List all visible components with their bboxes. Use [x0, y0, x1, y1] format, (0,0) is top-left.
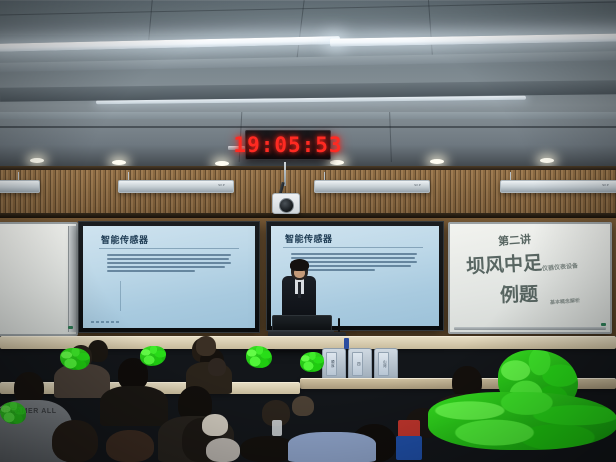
ceiling-projector	[272, 193, 300, 214]
left-slide-title: 智能传感器	[101, 233, 149, 246]
foliage-decoration	[140, 346, 166, 366]
wall-lamp-label: SKP	[218, 183, 225, 187]
podium-microphone	[338, 318, 340, 332]
right-slide-body	[291, 253, 417, 273]
wall-light-fixture: SKP	[314, 180, 430, 193]
foliage-decoration	[60, 348, 90, 370]
right-whiteboard: 第二讲 坝风中足 仪器仪表设备 例题 基本概念解析	[448, 222, 612, 334]
seat-placard: 顺序	[326, 352, 337, 376]
ceiling-downlight	[540, 158, 554, 163]
ceiling-downlight	[330, 160, 344, 165]
whiteboard-pen-tray	[454, 327, 606, 330]
ceiling-downlight	[112, 160, 126, 165]
whiteboard-text-5: 基本概念解析	[550, 297, 580, 306]
wall-lamp-label: SKP	[414, 183, 421, 187]
desk-object-bottle	[344, 338, 349, 349]
left-slide-body	[107, 254, 231, 274]
wall-light-fixture	[0, 180, 40, 193]
whiteboard-text-2: 坝风中足	[465, 248, 542, 279]
whiteboard-text-1: 第二讲	[497, 231, 531, 249]
foliage-decoration	[246, 346, 272, 368]
audience-head	[196, 336, 216, 356]
presenter-tie	[298, 282, 301, 298]
left-screen-frame: 智能传感器	[78, 221, 260, 333]
clock-time-display: 19:05:53	[233, 135, 342, 156]
wood-slat-wall	[0, 170, 616, 218]
foliage-decoration	[428, 392, 616, 450]
seat-placard: 四	[352, 352, 363, 376]
projector-lens	[279, 198, 294, 213]
ceiling-downlight	[430, 159, 444, 164]
ceiling-light-strip-1	[0, 36, 340, 52]
ceiling-downlight	[30, 158, 44, 163]
audience-head	[208, 358, 226, 376]
left-slide-footer	[91, 321, 119, 323]
audience-head	[206, 438, 240, 462]
audience-torso	[100, 386, 168, 426]
seat-placard-text: 山河	[382, 360, 386, 368]
desk-object-blue-box	[396, 436, 422, 460]
audience-torso	[288, 432, 376, 462]
audience-head	[202, 414, 228, 436]
audience-head	[52, 420, 98, 462]
led-wall-clock: 19:05:53	[245, 130, 331, 160]
desk-object-cup	[272, 420, 282, 436]
wall-lamp-label: SKP	[602, 183, 609, 187]
audience-head	[106, 430, 154, 462]
whiteboard-text-4: 例题	[500, 279, 539, 307]
right-slide-title: 智能传感器	[285, 232, 333, 245]
wall-light-fixture: SKP	[500, 180, 616, 193]
left-projection-screen: 智能传感器	[83, 226, 255, 328]
foliage-decoration	[300, 352, 324, 372]
left-whiteboard-panel	[0, 222, 78, 336]
seat-placard-text: 四	[356, 362, 360, 366]
seat-placard-text: 顺序	[330, 360, 334, 368]
foliage-decoration	[0, 402, 26, 424]
wall-light-fixture: SKP	[118, 180, 234, 193]
seat-placard: 山河	[378, 352, 389, 376]
ceiling-light-strip-2	[330, 33, 616, 46]
lecture-hall-photo: 19:05:53 SKP SKP SKP 智能传感器	[0, 0, 616, 462]
audience-head	[292, 396, 314, 416]
presenter-hair	[290, 259, 309, 271]
whiteboard-text-3: 仪器仪表设备	[542, 260, 579, 272]
